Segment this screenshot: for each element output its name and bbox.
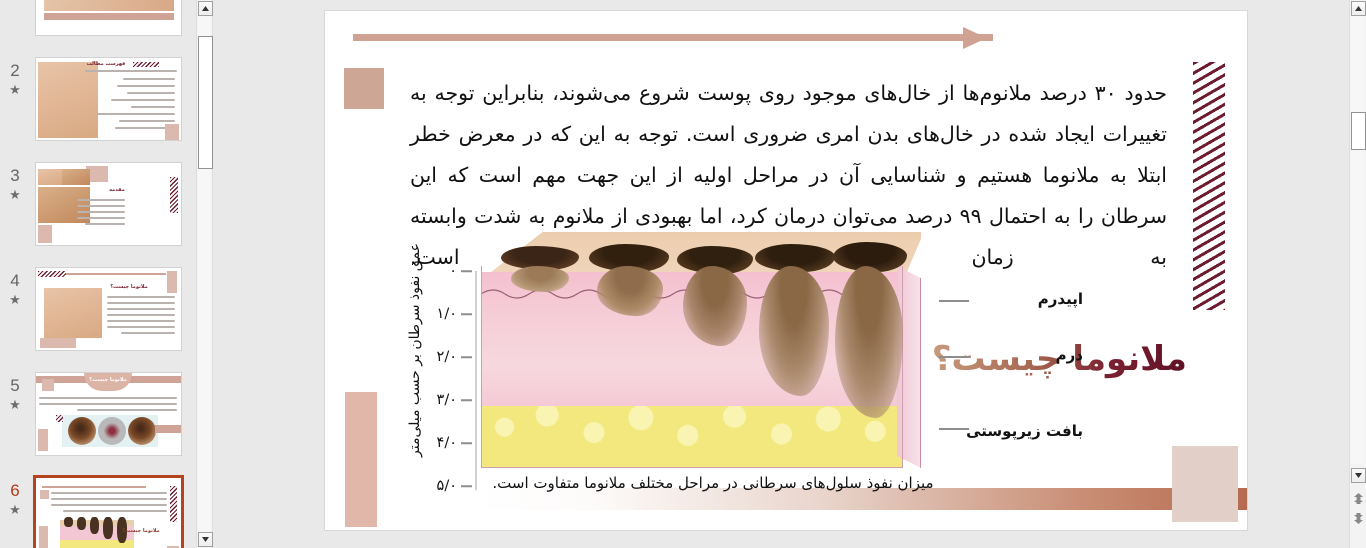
double-arrow-down-icon	[1353, 510, 1364, 529]
scroll-down-button[interactable]	[198, 532, 213, 547]
scroll-down-button[interactable]	[1351, 468, 1366, 483]
subcutaneous-fat-layer	[481, 406, 903, 468]
slide-thumbnail-frame[interactable]	[35, 0, 182, 36]
decor-square-top-left	[344, 68, 384, 109]
label-epidermis: اپیدرم	[1038, 290, 1083, 308]
slide-thumbnail-meta: 4 ★	[0, 271, 30, 307]
layer-label-group: اپیدرم درم بافت زیرپوستی	[939, 226, 1083, 486]
animation-star-icon: ★	[0, 397, 30, 412]
slide-number: 6	[10, 481, 19, 500]
slide-number: 4	[10, 271, 19, 290]
slide-thumbnail-meta: 2 ★	[0, 61, 30, 97]
powerpoint-window: 1 ★ 2 ★ فهرست مطالب	[0, 0, 1366, 548]
animation-star-icon: ★	[0, 187, 30, 202]
scroll-up-button[interactable]	[1351, 1, 1366, 16]
y-tick-label: ۰	[449, 263, 457, 279]
triangle-down-icon	[202, 537, 209, 542]
decor-block-bottom-right	[1172, 446, 1238, 522]
current-slide[interactable]: حدود ۳۰ درصد ملانوم‌ها از خال‌های موجود …	[325, 11, 1247, 530]
y-tick-mark	[461, 399, 472, 401]
y-tick-label: ۲/۰	[437, 349, 457, 365]
slide-thumbnail-4[interactable]: 4 ★ ملانوما چیست؟	[0, 263, 196, 368]
animation-star-icon: ★	[0, 82, 30, 97]
scrollbar-thumb[interactable]	[198, 36, 213, 169]
label-subcutaneous-tissue: بافت زیرپوستی	[983, 418, 1083, 444]
label-dermis: درم	[1056, 346, 1083, 364]
slide-editing-stage[interactable]: حدود ۳۰ درصد ملانوم‌ها از خال‌های موجود …	[214, 0, 1332, 548]
slide-thumbnail-meta: 5 ★	[0, 376, 30, 412]
mini-title: ملانوما چیست؟	[121, 528, 161, 534]
slide-thumbnail-strip: 1 ★ 2 ★ فهرست مطالب	[0, 0, 196, 548]
slide-number: 3	[10, 166, 19, 185]
y-tick-mark	[461, 270, 472, 272]
decor-hatch-right	[1193, 62, 1225, 310]
previous-slide-button[interactable]	[1353, 492, 1364, 506]
leader-line-epidermis	[939, 300, 969, 302]
y-tick-label: ۱/۰	[437, 306, 457, 322]
slide-thumbnail-meta: 6 ★	[0, 481, 30, 517]
slide-view-scrollbar[interactable]	[1349, 0, 1366, 548]
decor-rect-left-lower	[345, 392, 377, 527]
mini-title: مقدمه	[97, 187, 137, 193]
slide-thumbnail-frame[interactable]: فهرست مطالب	[35, 57, 182, 141]
slide-thumbnail-frame[interactable]: مقدمه	[35, 162, 182, 246]
mini-title: ملانوما چیست؟	[107, 284, 151, 290]
top-arrow-head-icon	[963, 27, 987, 49]
skin-cross-section-illustration	[481, 232, 921, 472]
animation-star-icon: ★	[0, 502, 30, 517]
slide-number: 2	[10, 61, 19, 80]
scroll-up-button[interactable]	[198, 1, 213, 16]
y-axis-title: عمق نفوذ سرطان بر حسب میلی‌متر	[403, 226, 427, 474]
leader-line-subcutaneous	[939, 428, 969, 430]
mini-title: ملانوما چیست؟	[88, 377, 128, 383]
y-axis-line	[475, 271, 477, 490]
top-arrow-bar	[353, 34, 993, 41]
slide-thumbnail-frame[interactable]: ملانوما چیست؟	[35, 267, 182, 351]
slide-thumbnail-frame[interactable]: ملانوما چیست؟	[33, 475, 184, 548]
slide-thumbnail-2[interactable]: 2 ★ فهرست مطالب	[0, 53, 196, 158]
y-tick-label: ۴/۰	[437, 435, 457, 451]
slide-thumbnail-meta: 3 ★	[0, 166, 30, 202]
leader-line-dermis	[939, 356, 969, 358]
scrollbar-track[interactable]	[1351, 16, 1365, 464]
y-tick-mark	[461, 356, 472, 358]
mini-title: فهرست مطالب	[83, 61, 129, 67]
animation-star-icon: ★	[0, 292, 30, 307]
y-tick-mark	[461, 442, 472, 444]
figure-caption: میزان نفوذ سلول‌های سرطانی در مراحل مختل…	[423, 474, 1003, 492]
triangle-up-icon	[202, 6, 209, 11]
slide-number: 5	[10, 376, 19, 395]
slide-thumbnail-6[interactable]: 6 ★	[0, 473, 196, 548]
slide-thumbnail-1[interactable]: 1 ★	[0, 0, 196, 53]
melanoma-depth-figure[interactable]: عمق نفوذ سرطان بر حسب میلی‌متر ۰ ۱/۰ ۲/۰…	[403, 226, 1083, 511]
next-slide-button[interactable]	[1353, 512, 1364, 526]
slide-thumbnail-5[interactable]: 5 ★ ملانوما چیست؟	[0, 368, 196, 473]
slide-thumbnail-pane[interactable]: 1 ★ 2 ★ فهرست مطالب	[0, 0, 196, 548]
scrollbar-thumb[interactable]	[1351, 112, 1366, 150]
y-tick-mark	[461, 313, 472, 315]
slide-thumbnail-3[interactable]: 3 ★ مقدمه	[0, 158, 196, 263]
slide-thumbnail-frame[interactable]: ملانوما چیست؟	[35, 372, 182, 456]
thumbnail-pane-scrollbar[interactable]	[196, 0, 213, 548]
triangle-up-icon	[1355, 6, 1362, 11]
double-arrow-up-icon	[1353, 490, 1364, 509]
y-axis-ticks: ۰ ۱/۰ ۲/۰ ۳/۰ ۴/۰ ۵/۰	[427, 271, 473, 486]
y-tick-label: ۳/۰	[437, 392, 457, 408]
triangle-down-icon	[1355, 473, 1362, 478]
